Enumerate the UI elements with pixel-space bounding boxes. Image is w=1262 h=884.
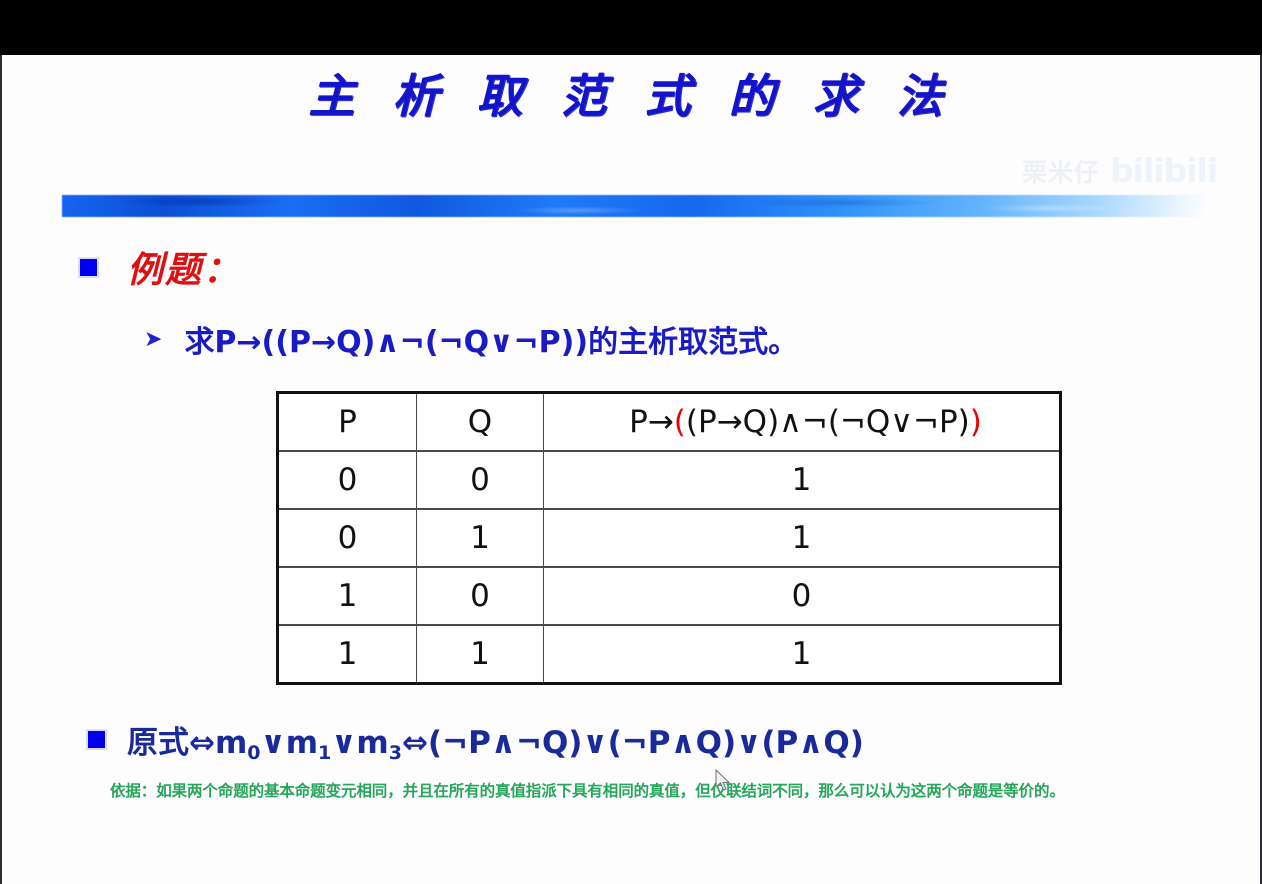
cell-value: 1 xyxy=(544,451,1061,509)
cell-p: 0 xyxy=(278,451,417,509)
triangle-bullet-icon: ➤ xyxy=(144,328,162,350)
conclusion-mid1: ∨m xyxy=(261,725,318,761)
cell-q: 1 xyxy=(417,625,544,684)
title-divider-bar xyxy=(62,195,1210,217)
table-row: 0 0 1 xyxy=(278,451,1061,509)
header-cell-formula: P→((P→Q)∧¬(¬Q∨¬P)) xyxy=(544,393,1061,452)
bilibili-logo-icon: bilibili xyxy=(1110,151,1217,190)
cell-value: 1 xyxy=(544,509,1061,567)
conclusion-text: 原式⇔m0∨m1∨m3⇔(¬P∧¬Q)∨(¬P∧Q)∨(P∧Q) xyxy=(127,717,864,762)
table-row: 0 1 1 xyxy=(278,509,1061,567)
header-cell-q: Q xyxy=(417,393,544,452)
formula-middle: (P→Q)∧¬(¬Q∨¬P) xyxy=(686,404,970,440)
table-row: 1 0 0 xyxy=(278,567,1061,625)
minterm-sub-0: 0 xyxy=(247,742,260,764)
conclusion-line: 原式⇔m0∨m1∨m3⇔(¬P∧¬Q)∨(¬P∧Q)∨(P∧Q) xyxy=(88,717,864,762)
bilibili-watermark: 栗米仔 bilibili xyxy=(1022,151,1217,190)
conclusion-suffix: ⇔(¬P∧¬Q)∨(¬P∧Q)∨(P∧Q) xyxy=(402,725,864,761)
watermark-username: 栗米仔 xyxy=(1022,153,1100,189)
conclusion-mid2: ∨m xyxy=(331,725,388,761)
minterm-sub-3: 3 xyxy=(389,742,402,764)
formula-open-paren: ( xyxy=(674,404,686,440)
cell-q: 1 xyxy=(417,509,544,567)
letterbox-top-bar xyxy=(0,0,1262,55)
cell-q: 0 xyxy=(417,451,544,509)
cell-q: 0 xyxy=(417,567,544,625)
question-line: ➤ 求P→((P→Q)∧¬(¬Q∨¬P))的主析取范式。 xyxy=(144,317,798,361)
cell-p: 1 xyxy=(278,625,417,684)
truth-table: P Q P→((P→Q)∧¬(¬Q∨¬P)) 0 0 1 0 1 1 xyxy=(276,391,1062,685)
header-cell-p: P xyxy=(278,393,417,452)
slide-canvas: 主 析 取 范 式 的 求 法 栗米仔 bilibili 例题： ➤ 求P→((… xyxy=(2,55,1260,884)
cell-p: 1 xyxy=(278,567,417,625)
slide-root: 主 析 取 范 式 的 求 法 栗米仔 bilibili 例题： ➤ 求P→((… xyxy=(0,0,1262,884)
example-heading: 例题： xyxy=(80,241,241,293)
footnote-text: 依据：如果两个命题的基本命题变元相同，并且在所有的真值指派下具有相同的真值，但仅… xyxy=(110,779,1230,801)
formula-prefix: P→ xyxy=(629,404,674,440)
page-title: 主 析 取 范 式 的 求 法 xyxy=(2,60,1260,126)
formula-close-paren: ) xyxy=(970,404,982,440)
question-text: 求P→((P→Q)∧¬(¬Q∨¬P))的主析取范式。 xyxy=(184,317,798,361)
conclusion-prefix: 原式⇔m xyxy=(127,725,247,761)
table-row: 1 1 1 xyxy=(278,625,1061,684)
table-header-row: P Q P→((P→Q)∧¬(¬Q∨¬P)) xyxy=(278,393,1061,452)
cell-p: 0 xyxy=(278,509,417,567)
square-bullet-icon xyxy=(88,731,105,748)
minterm-sub-1: 1 xyxy=(318,742,331,764)
cell-value: 0 xyxy=(544,567,1061,625)
cell-value: 1 xyxy=(544,625,1061,684)
example-label: 例题： xyxy=(127,241,241,293)
square-bullet-icon xyxy=(80,259,97,276)
